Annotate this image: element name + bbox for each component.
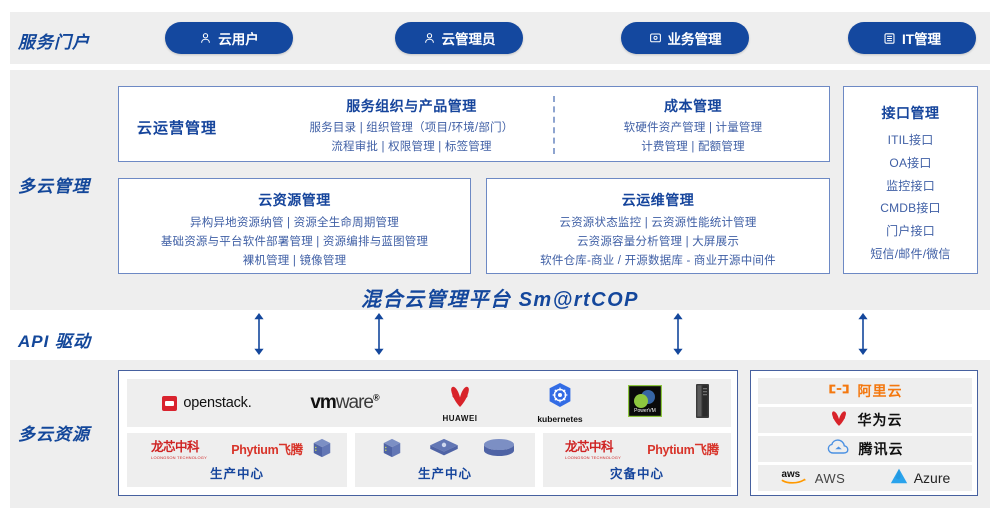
public-cloud-row-tencentcloud[interactable]: 腾讯云 (758, 436, 972, 462)
interface-item-portal: 门户接口 (844, 222, 977, 242)
cost-mgmt-title: 成本管理 (567, 96, 819, 116)
portal-button-business-mgmt[interactable]: 业务管理 (621, 22, 749, 54)
logo-huawei: HUAWEI (415, 381, 505, 425)
phytium-label: Phytium飞腾 (231, 439, 303, 458)
huawei-label: HUAWEI (443, 414, 478, 423)
cloud-ops-mgmt-line-1: 云资源状态监控 | 云资源性能统计管理 (487, 214, 829, 233)
loongson-label: 龙芯中科LOONGSON TECHNOLOGY (151, 436, 207, 460)
screen-icon (649, 32, 662, 45)
server-cube-icon-2 (379, 436, 405, 460)
huawei-flower-icon (446, 384, 474, 413)
logo-kubernetes: kubernetes (510, 381, 610, 425)
loongson-sub: LOONGSON TECHNOLOGY (151, 455, 207, 460)
cloud-ops-mgmt-title: 云运维管理 (487, 190, 829, 210)
api-arrow-2 (372, 313, 386, 355)
interface-item-cmdb: CMDB接口 (844, 199, 977, 219)
cloud-operation-box[interactable]: 云运营管理 服务组织与产品管理 服务目录 | 组织管理（项目/环境/部门） 流程… (118, 86, 830, 162)
list-icon (883, 32, 896, 45)
service-product-column: 服务组织与产品管理 服务目录 | 组织管理（项目/环境/部门） 流程审批 | 权… (269, 96, 554, 157)
switch-icon-2 (427, 436, 461, 460)
storage-disk-icon (482, 438, 516, 458)
multicloud-management-label: 多云管理 (18, 172, 90, 197)
public-cloud-row-aliyun[interactable]: 阿里云 (758, 378, 972, 404)
diagram-root: 服务门户 云用户 云管理员 业务管理 IT管理 多云管理 云运营管理 服务组织与… (0, 0, 1000, 518)
loongson-logo-3: 龙芯中科LOONGSON TECHNOLOGY (555, 437, 631, 459)
svg-text:PowerVM: PowerVM (634, 408, 656, 414)
huaweicloud-label: 华为云 (858, 410, 903, 430)
server-cube-icon-1 (309, 436, 335, 460)
server-rack-icon (694, 383, 712, 424)
azure-group[interactable]: Azure (889, 467, 951, 490)
api-driven-label: API 驱动 (18, 327, 91, 352)
service-product-line-2: 流程审批 | 权限管理 | 标签管理 (269, 138, 554, 157)
portal-button-cloud-user[interactable]: 云用户 (165, 22, 293, 54)
tencentcloud-label: 腾讯云 (859, 439, 904, 459)
portal-button-label: 业务管理 (668, 28, 722, 48)
public-cloud-row-huaweicloud[interactable]: 华为云 (758, 407, 972, 433)
cloud-ops-mgmt-line-2: 云资源容量分析管理 | 大屏展示 (487, 233, 829, 252)
logo-powervm: PowerVM (615, 385, 675, 421)
aws-group[interactable]: aws AWS (780, 467, 846, 490)
multicloud-resource-label: 多云资源 (18, 420, 90, 445)
cloud-ops-mgmt-line-3: 软件仓库-商业 / 开源数据库 - 商业开源中间件 (487, 252, 829, 271)
platform-title: 混合云管理平台 Sm@rtCOP (0, 283, 1000, 312)
cost-mgmt-line-1: 软硬件资产管理 | 计量管理 (567, 119, 819, 138)
logo-openstack: openstack. (147, 379, 267, 427)
interface-item-sms-mail-wechat: 短信/邮件/微信 (844, 245, 977, 265)
portal-button-label: 云管理员 (442, 28, 496, 48)
vmware-label: vmware® (310, 392, 378, 414)
kubernetes-helm-icon (547, 382, 573, 413)
service-product-title: 服务组织与产品管理 (269, 96, 554, 116)
portal-button-it-mgmt[interactable]: IT管理 (848, 22, 976, 54)
datacenter-label-2: 生产中心 (355, 463, 535, 482)
datacenter-cell-2[interactable]: 生产中心 (355, 433, 535, 487)
cloud-resource-mgmt-title: 云资源管理 (119, 190, 470, 210)
service-portal-label: 服务门户 (18, 28, 90, 53)
portal-button-label: 云用户 (218, 28, 259, 48)
portal-button-cloud-admin[interactable]: 云管理员 (395, 22, 523, 54)
tencentcloud-icon (827, 438, 851, 461)
loongson-logo-1: 龙芯中科LOONGSON TECHNOLOGY (141, 437, 217, 459)
cost-mgmt-line-2: 计费管理 | 配额管理 (567, 138, 819, 157)
aws-label: AWS (815, 471, 846, 486)
api-arrow-1 (252, 313, 266, 355)
user-icon (423, 32, 436, 45)
interface-item-itil: ITIL接口 (844, 131, 977, 151)
server-cube-icon (311, 437, 333, 459)
datacenter-label-1: 生产中心 (127, 463, 347, 482)
private-cloud-box[interactable]: openstack. vmware® HUAWEI (118, 370, 738, 496)
aliyun-icon (828, 381, 850, 402)
switch-icon (428, 437, 460, 459)
datacenter-cell-3[interactable]: 龙芯中科LOONGSON TECHNOLOGY Phytium飞腾 灾备中心 (543, 433, 731, 487)
cloud-ops-mgmt-box[interactable]: 云运维管理 云资源状态监控 | 云资源性能统计管理 云资源容量分析管理 | 大屏… (486, 178, 830, 274)
datacenter-cell-1[interactable]: 龙芯中科LOONGSON TECHNOLOGY Phytium飞腾 生产中心 (127, 433, 347, 487)
interface-item-oa: OA接口 (844, 154, 977, 174)
public-cloud-row-aws-azure[interactable]: aws AWS Azure (758, 465, 972, 491)
azure-icon (889, 467, 909, 490)
kubernetes-label: kubernetes (537, 414, 582, 424)
huawei-flower-icon (828, 409, 850, 432)
aliyun-label: 阿里云 (858, 381, 903, 401)
loongson-sub: LOONGSON TECHNOLOGY (565, 455, 621, 460)
powervm-icon: PowerVM (628, 385, 662, 422)
cloud-resource-mgmt-line-1: 异构异地资源纳管 | 资源全生命周期管理 (119, 214, 470, 233)
interface-mgmt-box[interactable]: 接口管理 ITIL接口 OA接口 监控接口 CMDB接口 门户接口 短信/邮件/… (843, 86, 978, 274)
interface-item-monitor: 监控接口 (844, 177, 977, 197)
cloud-operation-side-title: 云运营管理 (137, 117, 217, 138)
phytium-logo-3: Phytium飞腾 (643, 437, 723, 459)
loongson-label: 龙芯中科LOONGSON TECHNOLOGY (565, 436, 621, 460)
openstack-label: openstack. (183, 395, 251, 411)
api-arrow-3 (671, 313, 685, 355)
azure-label: Azure (914, 470, 951, 486)
aws-icon: aws (780, 467, 810, 490)
vendor-logo-strip: openstack. vmware® HUAWEI (127, 379, 731, 427)
cloud-resource-mgmt-line-2: 基础资源与平台软件部署管理 | 资源编排与蓝图管理 (119, 233, 470, 252)
server-cube-icon (381, 437, 403, 459)
phytium-logo-1: Phytium飞腾 (227, 437, 307, 459)
storage-disk-icon-2 (481, 437, 517, 459)
cloud-resource-mgmt-line-3: 裸机管理 | 镜像管理 (119, 252, 470, 271)
svg-text:aws: aws (781, 468, 800, 479)
service-product-line-1: 服务目录 | 组织管理（项目/环境/部门） (269, 119, 554, 138)
public-cloud-box[interactable]: 阿里云 华为云 腾讯云 (750, 370, 978, 496)
datacenter-label-3: 灾备中心 (543, 463, 731, 482)
logo-server-rack (675, 383, 731, 423)
portal-button-label: IT管理 (902, 28, 941, 48)
interface-mgmt-title: 接口管理 (844, 103, 977, 123)
logo-vmware: vmware® (282, 379, 407, 427)
cloud-resource-mgmt-box[interactable]: 云资源管理 异构异地资源纳管 | 资源全生命周期管理 基础资源与平台软件部署管理… (118, 178, 471, 274)
cost-mgmt-column: 成本管理 软硬件资产管理 | 计量管理 计费管理 | 配额管理 (567, 96, 819, 157)
openstack-mark-icon (162, 396, 177, 411)
user-icon (199, 32, 212, 45)
api-arrow-4 (856, 313, 870, 355)
phytium-label: Phytium飞腾 (647, 439, 719, 458)
